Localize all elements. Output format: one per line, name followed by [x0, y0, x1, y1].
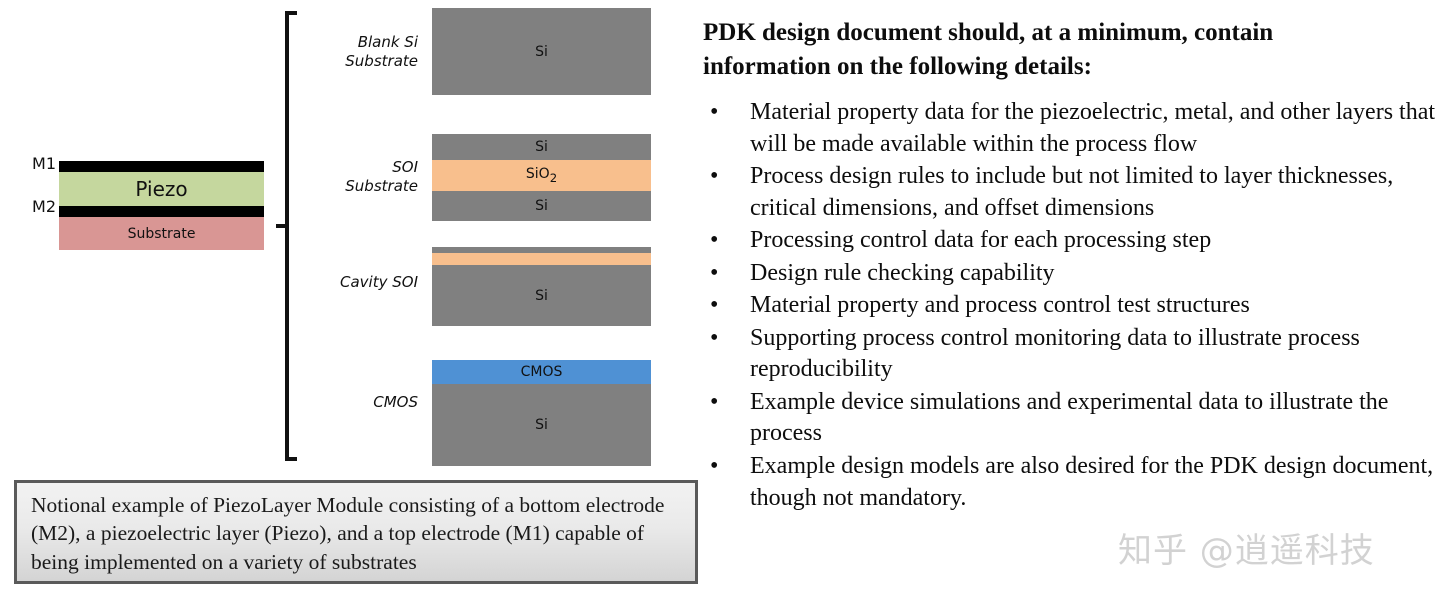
bullet-glyph-icon: • [710, 97, 718, 129]
substrate-label-line1: SOI [298, 158, 418, 177]
bullet-glyph-icon: • [710, 161, 718, 193]
caption-box: Notional example of PiezoLayer Module co… [14, 480, 698, 584]
piezo-layer: Piezo [59, 172, 264, 206]
piezo-layer-text: Piezo [135, 177, 187, 201]
layer-sio2: SiO2 [432, 160, 651, 191]
requirement-item: •Material property and process control t… [703, 290, 1440, 322]
piezolayer-module-diagram: Piezo Substrate [59, 161, 264, 250]
requirement-item: •Example device simulations and experime… [703, 387, 1440, 450]
layer-sio2 [432, 253, 651, 265]
requirement-text: Material property data for the piezoelec… [750, 99, 1435, 157]
substrate-label-soi: SOI Substrate [298, 158, 418, 196]
substrate-label-cavity-soi: Cavity SOI [298, 273, 418, 292]
substrate-label-line1: Blank Si [298, 33, 418, 52]
panel-heading: PDK design document should, at a minimum… [703, 16, 1375, 83]
substrate-label-line2: Substrate [298, 177, 418, 196]
requirement-text: Example design models are also desired f… [750, 453, 1433, 511]
requirement-item: •Material property data for the piezoele… [703, 97, 1440, 160]
bullet-glyph-icon: • [710, 225, 718, 257]
layer-si-bottom: Si [432, 191, 651, 221]
requirement-item: •Processing control data for each proces… [703, 225, 1440, 257]
requirement-text: Supporting process control monitoring da… [750, 325, 1360, 383]
requirements-bullet-list: •Material property data for the piezoele… [703, 97, 1440, 514]
substrate-label-line1: Cavity SOI [298, 273, 418, 292]
requirement-text: Example device simulations and experimen… [750, 389, 1388, 447]
bullet-glyph-icon: • [710, 258, 718, 290]
bullet-glyph-icon: • [710, 451, 718, 483]
slide-canvas: M1 M2 Piezo Substrate Blank Si Substrate… [0, 0, 1440, 602]
requirement-text: Process design rules to include but not … [750, 163, 1393, 221]
substrate-layer: Substrate [59, 217, 264, 250]
bullet-glyph-icon: • [710, 290, 718, 322]
layer-si: Si [432, 384, 651, 466]
requirements-panel: PDK design document should, at a minimum… [703, 16, 1440, 515]
substrate-label-cmos: CMOS [298, 393, 418, 412]
bullet-glyph-icon: • [710, 387, 718, 419]
caption-text: Notional example of PiezoLayer Module co… [31, 491, 683, 576]
substrate-layer-text: Substrate [128, 226, 196, 242]
m1-metal-layer [59, 161, 264, 172]
substrate-diagram-cmos: CMOS Si [432, 360, 651, 466]
grouping-bracket [285, 11, 297, 461]
layer-si: Si [432, 8, 651, 95]
substrate-label-line1: CMOS [298, 393, 418, 412]
substrate-diagram-soi: Si SiO2 Si [432, 134, 651, 221]
requirement-item: •Example design models are also desired … [703, 451, 1440, 514]
substrate-label-line2: Substrate [298, 52, 418, 71]
requirement-item: •Supporting process control monitoring d… [703, 323, 1440, 386]
layer-si-handle: Si [432, 265, 651, 326]
watermark: 知乎 @逍遥科技 [1118, 523, 1375, 572]
bullet-glyph-icon: • [710, 323, 718, 355]
layer-cmos: CMOS [432, 360, 651, 384]
requirement-text: Material property and process control te… [750, 292, 1250, 318]
m1-electrode-label: M1 [22, 154, 56, 173]
requirement-text: Processing control data for each process… [750, 227, 1211, 253]
requirement-item: •Design rule checking capability [703, 258, 1440, 290]
substrate-label-blank-si: Blank Si Substrate [298, 33, 418, 71]
requirement-item: •Process design rules to include but not… [703, 161, 1440, 224]
m2-electrode-label: M2 [22, 197, 56, 216]
substrate-diagram-cavity-soi: Si [432, 247, 651, 326]
m2-metal-layer [59, 206, 264, 217]
layer-si-top: Si [432, 134, 651, 160]
requirement-text: Design rule checking capability [750, 260, 1055, 286]
grouping-bracket-pointer [276, 224, 287, 228]
substrate-diagram-blank-si: Si [432, 8, 651, 95]
